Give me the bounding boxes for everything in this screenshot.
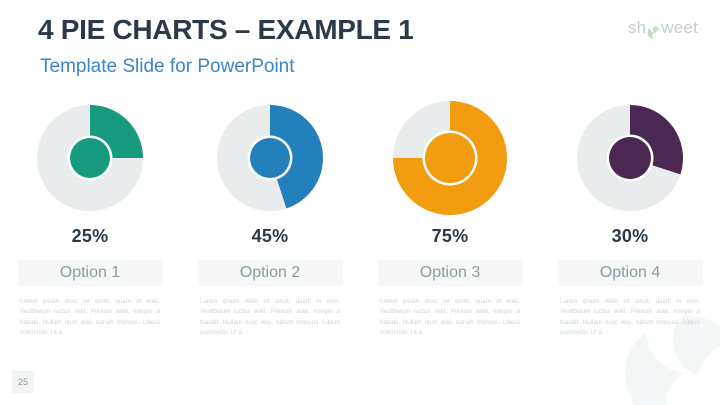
pie-inner-circle: [609, 137, 651, 179]
page-number: 25: [12, 371, 34, 393]
page-title: 4 PIE CHARTS – EXAMPLE 1: [38, 14, 414, 46]
option-label-4: Option 4: [600, 264, 660, 282]
body-text-1: Lorem ipsum dolor sit amet, quam id eros…: [20, 297, 160, 339]
pie-inner-circle: [70, 138, 110, 178]
brand-logo-text-after: weet: [661, 18, 698, 38]
body-text-2: Lorem ipsum dolor sit amet, quam id eros…: [200, 297, 340, 339]
brand-logo: sh weet: [628, 18, 698, 38]
brand-logo-text-before: sh: [628, 18, 646, 38]
pie-chart-columns: 25% Option 1 Lorem ipsum dolor sit amet,…: [0, 98, 720, 339]
body-text-4: Lorem ipsum dolor sit amet, quam id eros…: [560, 297, 700, 339]
page-subtitle: Template Slide for PowerPoint: [40, 56, 295, 78]
percent-label-2: 45%: [252, 226, 289, 247]
option-band-4[interactable]: Option 4: [558, 260, 703, 286]
chart-column-3: 75% Option 3 Lorem ipsum dolor sit amet,…: [360, 98, 540, 339]
option-label-3: Option 3: [420, 264, 480, 282]
body-text-3: Lorem ipsum dolor sit amet, quam id eros…: [380, 297, 520, 339]
percent-label-1: 25%: [72, 226, 109, 247]
option-band-2[interactable]: Option 2: [198, 260, 343, 286]
option-band-3[interactable]: Option 3: [378, 260, 523, 286]
pie-chart-3: [390, 98, 510, 218]
pie-chart-1-svg: [30, 98, 150, 218]
slide: 4 PIE CHARTS – EXAMPLE 1 Template Slide …: [0, 0, 720, 405]
option-band-1[interactable]: Option 1: [18, 260, 163, 286]
pie-chart-3-svg: [390, 98, 510, 218]
pie-inner-circle: [250, 138, 290, 178]
pie-chart-4-svg: [570, 98, 690, 218]
pie-inner-circle: [425, 133, 475, 183]
option-label-1: Option 1: [60, 264, 120, 282]
pie-chart-1: [30, 98, 150, 218]
chart-column-2: 45% Option 2 Lorem ipsum dolor sit amet,…: [180, 98, 360, 339]
leaf-icon: [647, 24, 660, 37]
pie-chart-2: [210, 98, 330, 218]
pie-chart-4: [570, 98, 690, 218]
percent-label-4: 30%: [612, 226, 649, 247]
chart-column-1: 25% Option 1 Lorem ipsum dolor sit amet,…: [0, 98, 180, 339]
option-label-2: Option 2: [240, 264, 300, 282]
pie-chart-2-svg: [210, 98, 330, 218]
percent-label-3: 75%: [432, 226, 469, 247]
chart-column-4: 30% Option 4 Lorem ipsum dolor sit amet,…: [540, 98, 720, 339]
